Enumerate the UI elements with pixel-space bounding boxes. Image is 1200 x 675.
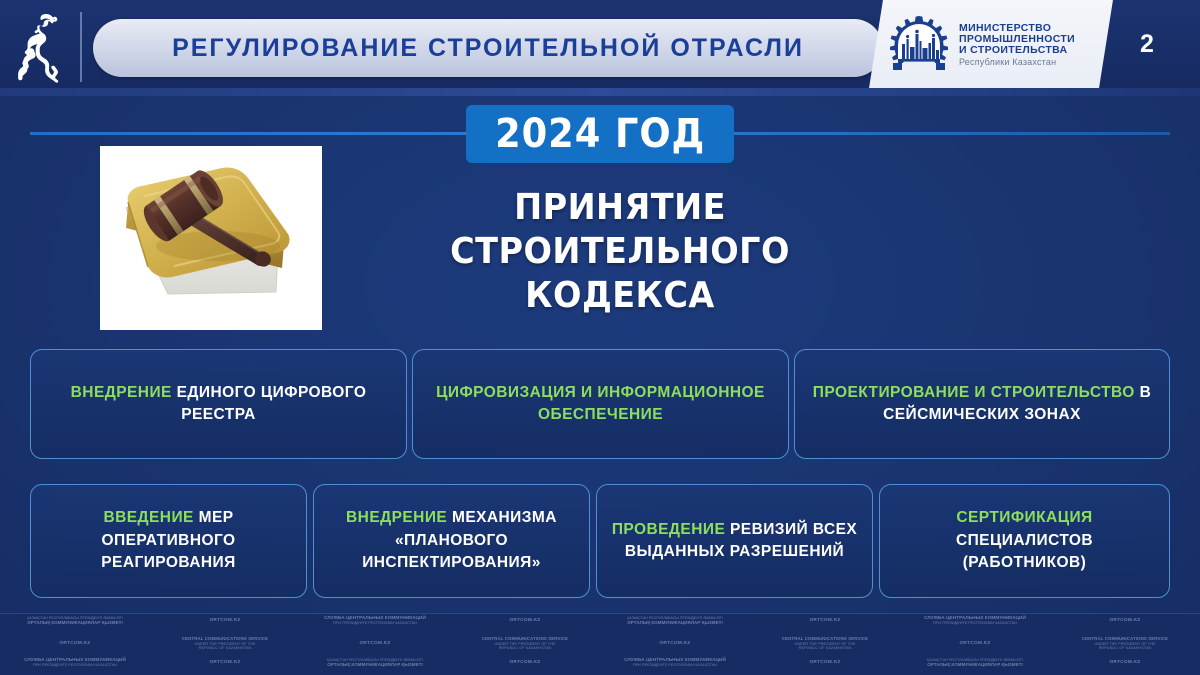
watermark-cell: СЛУЖБА ЦЕНТРАЛЬНЫХ КОММУНИКАЦИЙПРИ ПРЕЗИ… (602, 658, 749, 667)
slide-title-pill: РЕГУЛИРОВАНИЕ СТРОИТЕЛЬНОЙ ОТРАСЛИ (93, 19, 883, 77)
year-badge: 2024 ГОД (466, 105, 734, 163)
page-title: РЕГУЛИРОВАНИЕ СТРОИТЕЛЬНОЙ ОТРАСЛИ (172, 34, 804, 63)
snow-leopard-emblem-icon (8, 8, 70, 86)
watermark-cell: CENTRAL COMMUNICATIONS SERVICEUNDER THE … (752, 637, 899, 650)
header-bottom-strip (0, 88, 1200, 96)
watermark-cell: ORTCOM.KZ (302, 641, 449, 646)
watermark-cell: ҚАЗАҚСТАН РЕСПУБЛИКАСЫ ПРЕЗИДЕНТІ ӘКІМШІ… (602, 616, 749, 625)
watermark-cell: СЛУЖБА ЦЕНТРАЛЬНЫХ КОММУНИКАЦИЙПРИ ПРЕЗИ… (302, 616, 449, 625)
gavel-on-law-book-image (100, 146, 322, 330)
watermark-row: ҚАЗАҚСТАН РЕСПУБЛИКАСЫ ПРЕЗИДЕНТІ ӘКІМШІ… (0, 616, 1200, 626)
ministry-logo: МИНИСТЕРСТВО ПРОМЫШЛЕННОСТИ И СТРОИТЕЛЬС… (888, 8, 1098, 82)
card-response-text: ВВЕДЕНИЕ МЕР ОПЕРАТИВНОГО РЕАГИРОВАНИЯ (43, 507, 294, 574)
card-audit-text: ПРОВЕДЕНИЕ РЕВИЗИЙ ВСЕХ ВЫДАННЫХ РАЗРЕШЕ… (609, 519, 860, 564)
watermark-cell: CENTRAL COMMUNICATIONS SERVICEUNDER THE … (452, 637, 599, 650)
card-certify-text: СЕРТИФИКАЦИЯ СПЕЦИАЛИСТОВ (РАБОТНИКОВ) (892, 507, 1157, 574)
card-seismic-highlight: ПРОЕКТИРОВАНИЕ И СТРОИТЕЛЬСТВО (813, 384, 1135, 401)
card-registry-text: ВНЕДРЕНИЕ ЕДИНОГО ЦИФРОВОГО РЕЕСТРА (43, 382, 394, 427)
card-registry-highlight: ВНЕДРЕНИЕ (71, 384, 172, 401)
watermark-cell: ORTCOM.KZ (752, 618, 899, 623)
year-badge-label: 2024 ГОД (495, 111, 705, 157)
watermark-cell: СЛУЖБА ЦЕНТРАЛЬНЫХ КОММУНИКАЦИЙПРИ ПРЕЗИ… (902, 616, 1049, 625)
watermark-cell: ҚАЗАҚСТАН РЕСПУБЛИКАСЫ ПРЕЗИДЕНТІ ӘКІМШІ… (2, 616, 149, 625)
main-headline: ПРИНЯТИЕ СТРОИТЕЛЬНОГО КОДЕКСА (340, 186, 900, 318)
card-seismic[interactable]: ПРОЕКТИРОВАНИЕ И СТРОИТЕЛЬСТВО В СЕЙСМИЧ… (794, 349, 1170, 459)
card-inspection-text: ВНЕДРЕНИЕ МЕХАНИЗМА «ПЛАНОВОГО ИНСПЕКТИР… (326, 507, 577, 574)
watermark-cell: ORTCOM.KZ (452, 618, 599, 623)
card-certify-rest: СПЕЦИАЛИСТОВ (РАБОТНИКОВ) (956, 532, 1093, 571)
watermark-cell: ORTCOM.KZ (752, 660, 899, 665)
watermark-row: СЛУЖБА ЦЕНТРАЛЬНЫХ КОММУНИКАЦИЙПРИ ПРЕЗИ… (0, 658, 1200, 668)
footer-watermark-strip: ҚАЗАҚСТАН РЕСПУБЛИКАСЫ ПРЕЗИДЕНТІ ӘКІМШІ… (0, 613, 1200, 675)
card-response-highlight: ВВЕДЕНИЕ (103, 509, 193, 526)
ministry-line-3: И СТРОИТЕЛЬСТВА (959, 45, 1075, 56)
watermark-cell: ORTCOM.KZ (2, 641, 149, 646)
watermark-cell: CENTRAL COMMUNICATIONS SERVICEUNDER THE … (1052, 637, 1199, 650)
headline-line-2: СТРОИТЕЛЬНОГО КОДЕКСА (360, 230, 881, 318)
watermark-cell: ҚАЗАҚСТАН РЕСПУБЛИКАСЫ ПРЕЗИДЕНТІ ӘКІМШІ… (902, 658, 1049, 667)
watermark-cell: CENTRAL COMMUNICATIONS SERVICEUNDER THE … (152, 637, 299, 650)
watermark-cell: ORTCOM.KZ (1052, 618, 1199, 623)
ministry-logo-text: МИНИСТЕРСТВО ПРОМЫШЛЕННОСТИ И СТРОИТЕЛЬС… (959, 23, 1075, 68)
ministry-line-1: МИНИСТЕРСТВО (959, 23, 1075, 34)
watermark-cell: ORTCOM.KZ (152, 660, 299, 665)
watermark-cell: ORTCOM.KZ (902, 641, 1049, 646)
card-certify-highlight: СЕРТИФИКАЦИЯ (956, 509, 1092, 526)
card-digital-text: ЦИФРОВИЗАЦИЯ И ИНФОРМАЦИОННОЕ ОБЕСПЕЧЕНИ… (425, 382, 776, 427)
watermark-cell: ORTCOM.KZ (1052, 660, 1199, 665)
watermark-cell: ORTCOM.KZ (152, 618, 299, 623)
card-inspection[interactable]: ВНЕДРЕНИЕ МЕХАНИЗМА «ПЛАНОВОГО ИНСПЕКТИР… (313, 484, 590, 598)
card-inspection-highlight: ВНЕДРЕНИЕ (346, 509, 447, 526)
card-registry-rest: ЕДИНОГО ЦИФРОВОГО РЕЕСТРА (172, 384, 367, 423)
card-certify[interactable]: СЕРТИФИКАЦИЯ СПЕЦИАЛИСТОВ (РАБОТНИКОВ) (879, 484, 1170, 598)
card-audit[interactable]: ПРОВЕДЕНИЕ РЕВИЗИЙ ВСЕХ ВЫДАННЫХ РАЗРЕШЕ… (596, 484, 873, 598)
gear-factory-icon (888, 14, 950, 76)
card-response[interactable]: ВВЕДЕНИЕ МЕР ОПЕРАТИВНОГО РЕАГИРОВАНИЯ (30, 484, 307, 598)
watermark-cell: ORTCOM.KZ (602, 641, 749, 646)
watermark-cell: ҚАЗАҚСТАН РЕСПУБЛИКАСЫ ПРЕЗИДЕНТІ ӘКІМШІ… (302, 658, 449, 667)
card-digital-highlight: ЦИФРОВИЗАЦИЯ И ИНФОРМАЦИОННОЕ ОБЕСПЕЧЕНИ… (436, 384, 765, 423)
watermark-cell: СЛУЖБА ЦЕНТРАЛЬНЫХ КОММУНИКАЦИЙПРИ ПРЕЗИ… (2, 658, 149, 667)
header-divider-rule (80, 12, 82, 82)
watermark-cell: ORTCOM.KZ (452, 660, 599, 665)
slide-root: РЕГУЛИРОВАНИЕ СТРОИТЕЛЬНОЙ ОТРАСЛИ (0, 0, 1200, 675)
card-digital[interactable]: ЦИФРОВИЗАЦИЯ И ИНФОРМАЦИОННОЕ ОБЕСПЕЧЕНИ… (412, 349, 789, 459)
watermark-row: ORTCOM.KZCENTRAL COMMUNICATIONS SERVICEU… (0, 637, 1200, 650)
slide-header: РЕГУЛИРОВАНИЕ СТРОИТЕЛЬНОЙ ОТРАСЛИ (0, 0, 1200, 96)
headline-line-1: ПРИНЯТИЕ (360, 186, 881, 230)
card-registry[interactable]: ВНЕДРЕНИЕ ЕДИНОГО ЦИФРОВОГО РЕЕСТРА (30, 349, 407, 459)
ministry-line-4: Республики Казахстан (959, 58, 1075, 68)
card-audit-highlight: ПРОВЕДЕНИЕ (612, 521, 725, 538)
card-seismic-text: ПРОЕКТИРОВАНИЕ И СТРОИТЕЛЬСТВО В СЕЙСМИЧ… (807, 382, 1157, 427)
page-number: 2 (1140, 30, 1180, 59)
